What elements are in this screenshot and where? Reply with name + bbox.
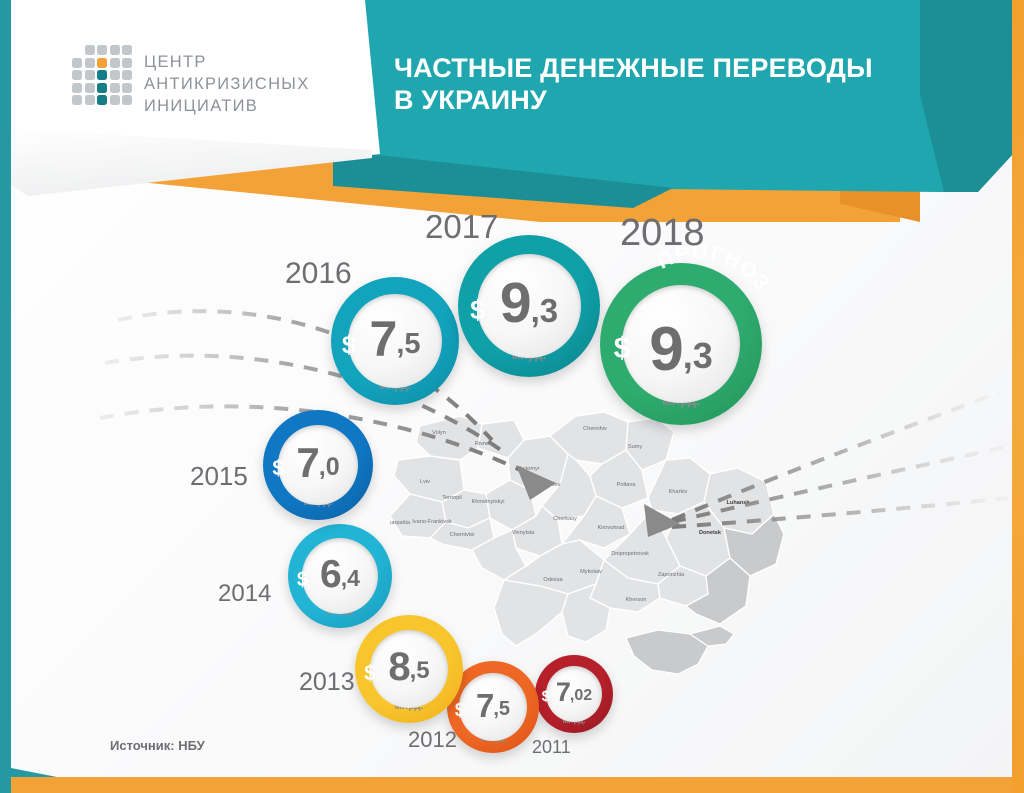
map-label-chernihiv: Chernihiv <box>583 426 607 432</box>
year-label-2012: 2012 <box>408 727 457 753</box>
bubble-2013[interactable]: млрд.8,5$ <box>355 615 463 723</box>
bubble-currency-symbol: $ <box>272 458 284 479</box>
bubble-value-decimal: ,3 <box>531 294 559 333</box>
bubble-currency-symbol: $ <box>542 689 550 704</box>
bubble-value-decimal: ,5 <box>410 659 430 687</box>
year-label-2017: 2017 <box>425 208 498 246</box>
logo-cell <box>85 83 95 93</box>
bubble-inner-disc: 6,4 <box>302 538 378 614</box>
bubble-currency-symbol: $ <box>297 570 308 590</box>
bubble-value-decimal: ,5 <box>396 330 420 364</box>
logo-cell <box>97 70 107 80</box>
year-label-2013: 2013 <box>299 668 355 697</box>
bubble-2014[interactable]: млрд.6,4$ <box>288 524 392 628</box>
bubble-value: 8,5 <box>388 647 429 687</box>
right-edge-stripe <box>1012 0 1024 793</box>
logo-cell <box>110 95 120 105</box>
map-label-volyn: Volyn <box>432 430 446 436</box>
bubble-2011[interactable]: млрд.7,02$ <box>535 655 613 733</box>
logo-cell <box>97 95 107 105</box>
map-label-mykolaiv: Mykolaiv <box>580 569 602 575</box>
brand-name: ЦЕНТР АНТИКРИЗИСНЫХ ИНИЦИАТИВ <box>144 51 310 117</box>
bubble-value: 7,5 <box>476 689 510 722</box>
logo-cell <box>97 83 107 93</box>
map-label-sumy: Sumy <box>628 444 643 450</box>
bubble-value-integer: 7 <box>556 679 570 706</box>
logo-cell <box>122 70 132 80</box>
bubble-value-integer: 9 <box>500 275 531 332</box>
map-label-donetsk: Donetsk <box>699 530 722 536</box>
bubble-2016[interactable]: млрд.7,5$ <box>331 277 459 405</box>
bubble-value: 9,3 <box>500 275 558 332</box>
bubble-inner-disc: 7,5 <box>459 673 527 741</box>
map-label-rivne: Rivne <box>475 441 489 447</box>
bottom-edge-stripe <box>11 777 1012 793</box>
logo-cell <box>85 95 95 105</box>
map-crimea <box>626 626 734 674</box>
brand-logo: ЦЕНТР АНТИКРИЗИСНЫХ ИНИЦИАТИВ <box>72 45 334 123</box>
logo-cell <box>122 58 132 68</box>
logo-cell <box>85 70 95 80</box>
bubble-inner-disc: 8,5 <box>370 630 448 708</box>
infographic-page: ЧАСТНЫЕ ДЕНЕЖНЫЕ ПЕРЕВОДЫ В УКРАИНУ ЦЕНТ… <box>0 0 1024 793</box>
logo-cell <box>110 45 120 55</box>
map-label-kirovohrad: Kirovohrad <box>597 525 624 531</box>
map-label-dnipropetrovsk: Dnipropetrovsk <box>611 551 649 557</box>
logo-cell <box>85 58 95 68</box>
logo-cell <box>72 95 82 105</box>
logo-cell <box>72 70 82 80</box>
bubble-2015[interactable]: млрд.7,0$ <box>263 410 373 520</box>
logo-cell <box>85 45 95 55</box>
logo-cell <box>122 45 132 55</box>
map-label-kharkiv: Kharkiv <box>669 489 688 495</box>
map-label-zakarpattia: Zakarpattia <box>390 520 411 526</box>
bubble-value-decimal: ,5 <box>493 699 510 722</box>
bubble-inner-disc: 7,02 <box>546 666 602 722</box>
bubble-2017[interactable]: млрд.9,3$ <box>458 235 600 377</box>
logo-grid-icon <box>72 45 134 117</box>
map-label-zhytomyr: Zhytomyr <box>516 466 539 472</box>
map-label-odessa: Odessa <box>543 577 563 583</box>
source-label: Источник: НБУ <box>110 738 205 753</box>
bubble-value-integer: 7 <box>370 314 397 364</box>
bubble-currency-symbol: $ <box>614 334 631 364</box>
year-label-2015: 2015 <box>190 461 248 492</box>
map-label-poltava: Poltava <box>617 482 637 488</box>
bubble-value-integer: 7 <box>476 689 493 722</box>
bubble-currency-symbol: $ <box>470 297 485 324</box>
year-label-2018: 2018 <box>620 212 705 255</box>
map-label-luhansk: Luhansk <box>726 500 750 506</box>
page-title: ЧАСТНЫЕ ДЕНЕЖНЫЕ ПЕРЕВОДЫ В УКРАИНУ <box>394 52 873 116</box>
bubble-value-decimal: ,4 <box>341 567 360 594</box>
bubble-value: 7,02 <box>556 679 592 706</box>
bubble-inner-disc: 7,0 <box>278 425 358 505</box>
bubble-inner-disc: 7,5 <box>348 294 442 388</box>
map-label-kiev: Kiev <box>550 482 561 488</box>
map-label-chernivtsi: Chernivtsi <box>450 532 475 538</box>
bubble-value: 6,4 <box>320 555 360 594</box>
logo-cell <box>110 83 120 93</box>
map-label-khmelnytskyi: Khmelnytskyi <box>472 499 505 505</box>
bubble-currency-symbol: $ <box>342 333 356 358</box>
bubble-value-integer: 8 <box>388 647 409 687</box>
logo-cell <box>72 83 82 93</box>
bubble-value-decimal: ,02 <box>570 688 592 707</box>
year-label-2016: 2016 <box>285 257 352 291</box>
left-edge-stripe <box>0 0 11 793</box>
logo-cell <box>72 58 82 68</box>
bubble-value-integer: 7 <box>296 442 318 484</box>
bubble-currency-symbol: $ <box>364 663 376 684</box>
map-label-ivano-frankivsk: Ivano-Frankivsk <box>412 519 452 525</box>
logo-cell <box>122 83 132 93</box>
map-label-cherkasy: Cherkasy <box>553 516 577 522</box>
bubble-value-integer: 6 <box>320 555 341 594</box>
logo-cell <box>122 95 132 105</box>
map-label-vinnytsia: Vinnytsia <box>512 530 535 536</box>
bubble-inner-disc: 9,3 <box>477 254 581 358</box>
bubble-2018[interactable]: околомлрд.9,3$ПРОГНОЗ <box>600 263 762 425</box>
bubble-value-decimal: ,0 <box>319 455 340 484</box>
logo-cell <box>110 58 120 68</box>
year-label-2014: 2014 <box>218 580 271 608</box>
logo-cell <box>110 70 120 80</box>
map-label-zaporizhia: Zaporizhia <box>658 572 685 578</box>
map-label-lviv: Lviv <box>420 479 430 485</box>
bubble-value: 7,5 <box>370 314 421 364</box>
bubble-value: 7,0 <box>296 442 339 484</box>
logo-cell <box>97 58 107 68</box>
logo-cell <box>97 45 107 55</box>
map-label-ternopil: Ternopil <box>442 495 462 501</box>
map-label-kherson: Kherson <box>626 597 647 603</box>
